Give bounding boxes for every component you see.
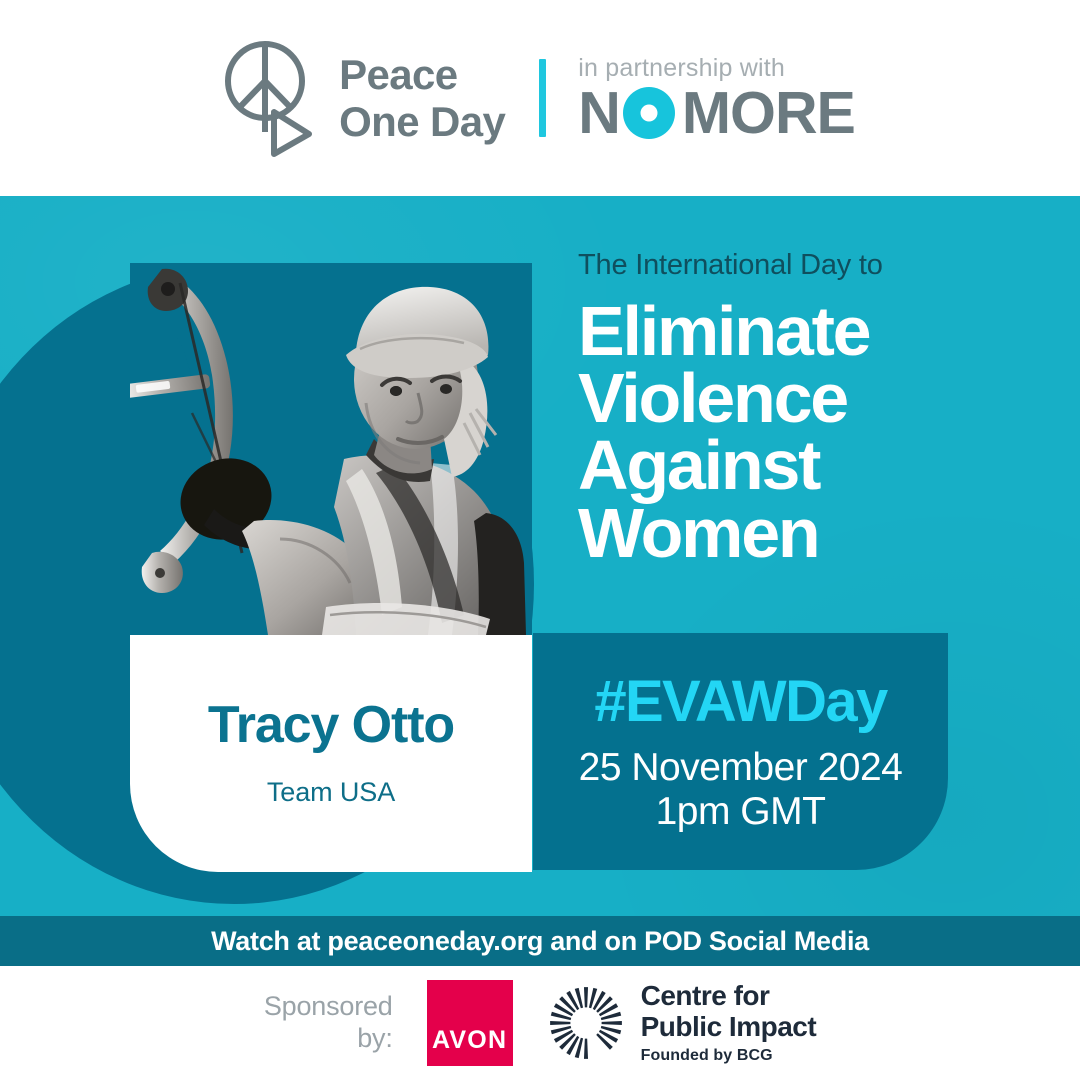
nomore-more: MORE — [682, 84, 855, 143]
header-logo-bar: Peace One Day in partnership with N MORE — [0, 0, 1080, 196]
event-info-card: #EVAWDay 25 November 2024 1pm GMT — [533, 633, 948, 870]
headline-line-3: Against — [578, 432, 978, 499]
event-date: 25 November 2024 — [579, 746, 903, 790]
sponsored-by-line-1: Sponsored — [264, 991, 393, 1023]
page-title: Eliminate Violence Against Women — [578, 298, 978, 567]
nomore-logo: in partnership with N MORE — [578, 54, 855, 143]
headline-line-4: Women — [578, 500, 978, 567]
athlete-archer-portrait — [130, 263, 532, 635]
headline-block: The International Day to Eliminate Viole… — [578, 251, 978, 567]
cpi-line-1: Centre for — [641, 981, 817, 1012]
main-teal-band: The International Day to Eliminate Viole… — [0, 196, 1080, 916]
logo-row: Peace One Day in partnership with N MORE — [225, 38, 855, 158]
sponsored-by-label: Sponsored by: — [264, 991, 393, 1055]
pod-line-2: One Day — [339, 98, 505, 145]
watch-text: Watch at peaceoneday.org and on POD Soci… — [211, 926, 869, 957]
cpi-wordmark: Centre for Public Impact Founded by BCG — [641, 981, 817, 1065]
sponsor-strip: Sponsored by: AVON — [0, 966, 1080, 1080]
event-datetime: 25 November 2024 1pm GMT — [579, 746, 903, 834]
peace-one-day-logo: Peace One Day — [225, 38, 505, 158]
headline-line-1: Eliminate — [578, 298, 978, 365]
kicker-text: The International Day to — [578, 251, 978, 280]
poster-canvas: Peace One Day in partnership with N MORE — [0, 0, 1080, 1080]
centre-for-public-impact-logo: Centre for Public Impact Founded by BCG — [547, 981, 817, 1065]
event-hashtag: #EVAWDay — [594, 673, 886, 731]
speaker-name-card: Tracy Otto Team USA — [130, 635, 532, 872]
cpi-sub: Founded by BCG — [641, 1047, 817, 1065]
sponsored-by-line-2: by: — [264, 1023, 393, 1055]
nomore-o-dot-icon — [623, 87, 675, 139]
athlete-photo — [130, 263, 532, 635]
watch-info-bar: Watch at peaceoneday.org and on POD Soci… — [0, 916, 1080, 966]
sunburst-icon — [547, 984, 625, 1062]
nomore-wordmark: N MORE — [578, 84, 855, 143]
avon-logo: AVON — [427, 980, 513, 1066]
pod-line-1: Peace — [339, 51, 505, 98]
partnership-label: in partnership with — [578, 54, 785, 83]
peace-one-day-wordmark: Peace One Day — [339, 51, 505, 145]
speaker-team: Team USA — [267, 777, 395, 808]
event-time: 1pm GMT — [579, 790, 903, 834]
avon-wordmark: AVON — [427, 1026, 513, 1055]
nomore-n: N — [578, 84, 620, 143]
speaker-name: Tracy Otto — [208, 699, 454, 751]
peace-symbol-play-icon — [225, 38, 317, 158]
cpi-line-2: Public Impact — [641, 1012, 817, 1043]
headline-line-2: Violence — [578, 365, 978, 432]
header-divider — [539, 59, 546, 137]
